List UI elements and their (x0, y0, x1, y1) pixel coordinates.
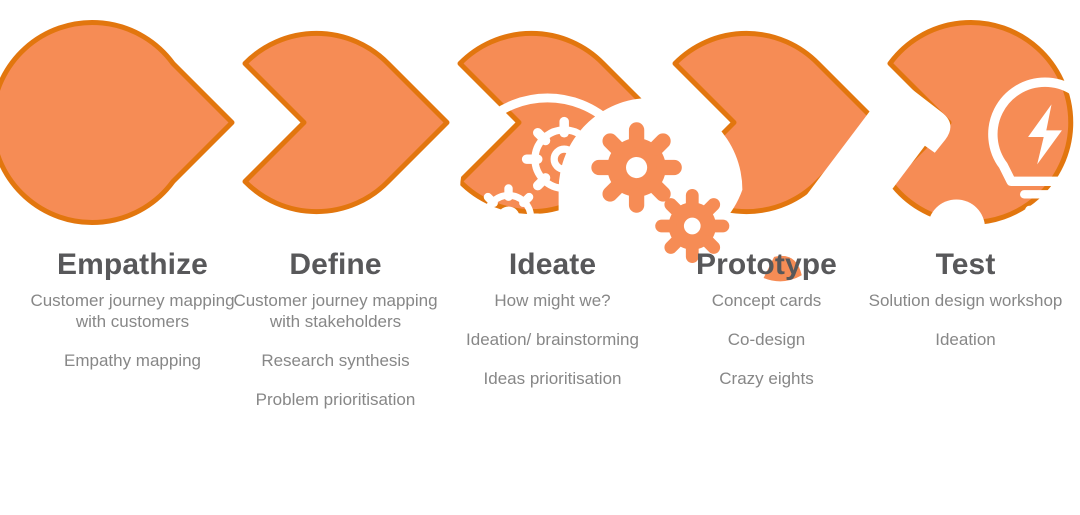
list-item: Solution design workshop (858, 290, 1073, 311)
list-item: How might we? (445, 290, 660, 311)
stage-column-define: Define Customer journey mapping with sta… (228, 248, 443, 410)
stage-items-ideate: How might we? Ideation/ brainstorming Id… (445, 290, 660, 389)
stage-title-define: Define (228, 248, 443, 282)
stage-items-define: Customer journey mapping with stakeholde… (228, 290, 443, 410)
stage-title-prototype: Prototype (659, 248, 874, 282)
list-item: Customer journey mapping with customers (25, 290, 240, 332)
list-item: Research synthesis (228, 350, 443, 371)
stage-column-empathize: Empathize Customer journey mapping with … (25, 248, 240, 371)
stage-column-test: Test Solution design workshop Ideation (858, 248, 1073, 350)
stage-items-test: Solution design workshop Ideation (858, 290, 1073, 350)
stage-column-ideate: Ideate How might we? Ideation/ brainstor… (445, 248, 660, 389)
stage-icon-layer (0, 0, 1080, 245)
list-item: Ideation (858, 329, 1073, 350)
stage-title-test: Test (858, 248, 1073, 282)
list-item: Crazy eights (659, 368, 874, 389)
list-item: Concept cards (659, 290, 874, 311)
list-item: Customer journey mapping with stakeholde… (228, 290, 443, 332)
stage-title-empathize: Empathize (25, 248, 240, 282)
list-item: Ideation/ brainstorming (445, 329, 660, 350)
stage-text-columns: Empathize Customer journey mapping with … (0, 248, 1080, 515)
stage-items-prototype: Concept cards Co-design Crazy eights (659, 290, 874, 389)
list-item: Empathy mapping (25, 350, 240, 371)
list-item: Ideas prioritisation (445, 368, 660, 389)
design-thinking-diagram: Empathize Customer journey mapping with … (0, 0, 1080, 515)
stage-column-prototype: Prototype Concept cards Co-design Crazy … (659, 248, 874, 389)
list-item: Problem prioritisation (228, 389, 443, 410)
stage-title-ideate: Ideate (445, 248, 660, 282)
stage-items-empathize: Customer journey mapping with customers … (25, 290, 240, 371)
list-item: Co-design (659, 329, 874, 350)
process-shape-band (0, 0, 1080, 245)
